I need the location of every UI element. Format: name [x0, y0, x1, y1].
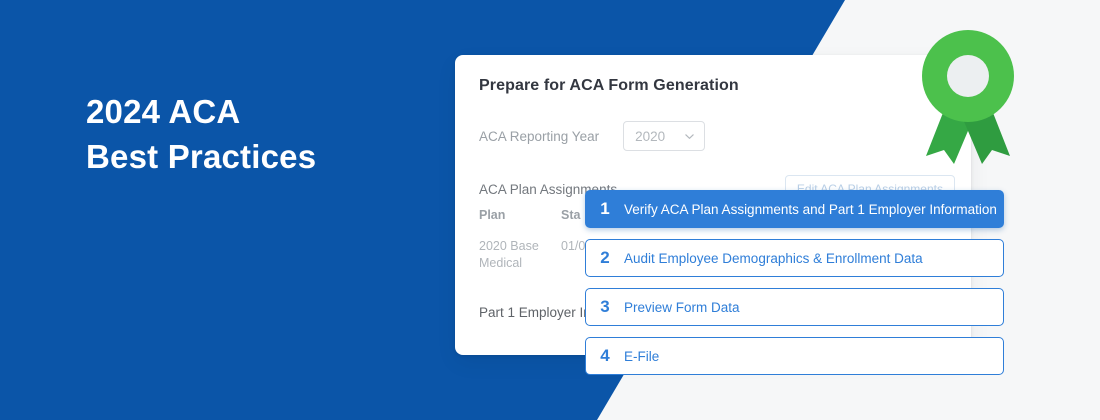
best-practices-steps-list: 1 Verify ACA Plan Assignments and Part 1…: [585, 190, 1004, 375]
step-number: 1: [586, 199, 624, 219]
step-number: 2: [586, 248, 624, 268]
award-ribbon-icon: [918, 28, 1018, 168]
cell-plan-name: 2020 Base Medical: [479, 238, 561, 272]
step-label: Verify ACA Plan Assignments and Part 1 E…: [624, 202, 997, 217]
column-header-plan: Plan: [479, 207, 561, 224]
step-number: 3: [586, 297, 624, 317]
step-label: Preview Form Data: [624, 300, 740, 315]
step-item-2[interactable]: 2 Audit Employee Demographics & Enrollme…: [585, 239, 1004, 277]
chevron-down-icon: [684, 131, 695, 142]
headline-line-2: Best Practices: [86, 135, 316, 180]
reporting-year-value: 2020: [635, 129, 665, 144]
step-item-3[interactable]: 3 Preview Form Data: [585, 288, 1004, 326]
step-number: 4: [586, 346, 624, 366]
step-label: Audit Employee Demographics & Enrollment…: [624, 251, 923, 266]
reporting-year-row: ACA Reporting Year 2020: [479, 121, 705, 151]
aca-best-practices-banner: 2024 ACA Best Practices Prepare for ACA …: [0, 0, 1100, 420]
reporting-year-select[interactable]: 2020: [623, 121, 705, 151]
step-label: E-File: [624, 349, 659, 364]
headline-line-1: 2024 ACA: [86, 93, 240, 130]
part1-employer-info-label: Part 1 Employer Inf: [479, 305, 595, 320]
page-title: 2024 ACA Best Practices: [86, 90, 316, 179]
card-title: Prepare for ACA Form Generation: [479, 77, 739, 95]
step-item-4[interactable]: 4 E-File: [585, 337, 1004, 375]
reporting-year-label: ACA Reporting Year: [479, 129, 599, 144]
step-item-1[interactable]: 1 Verify ACA Plan Assignments and Part 1…: [585, 190, 1004, 228]
